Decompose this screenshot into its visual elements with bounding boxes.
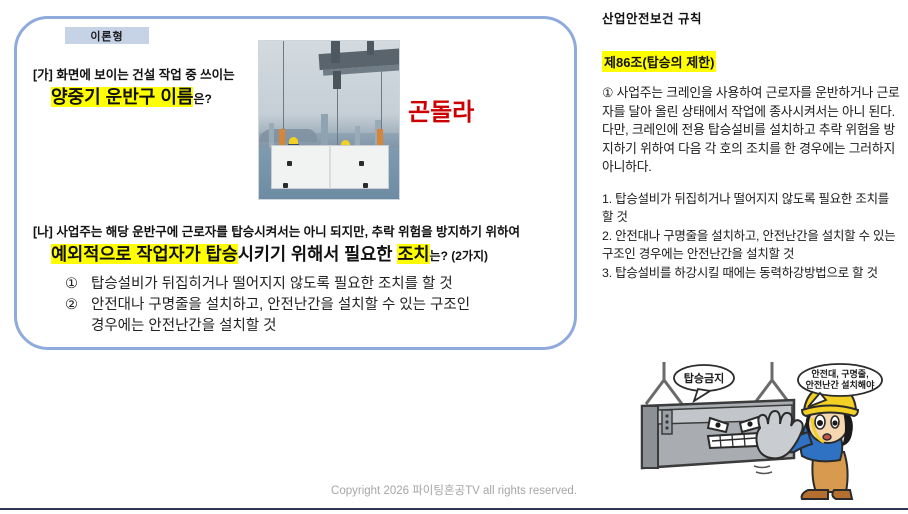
answer-item: 경우에는 안전난간을 설치할 것 [65,316,545,336]
answer-item: ② 안전대나 구명줄을 설치하고, 안전난간을 설치할 수 있는 구조인 [65,295,545,315]
question-b-marker: [나] [33,225,53,239]
gondola-photo [258,40,400,200]
question-b-highlight-1: 예외적으로 작업자가 탑승 [51,244,238,264]
question-a-highlight: 양중기 운반구 이름 [51,87,193,107]
question-a-main: 양중기 운반구 이름은? [33,85,283,111]
question-a-lead: [가] 화면에 보이는 건설 작업 중 쓰이는 [33,67,283,84]
answer-number [65,316,91,336]
regulation-article-heading: 제86조(탑승의 제한) [602,51,716,72]
answer-item: ① 탑승설비가 뒤집히거나 떨어지지 않도록 필요한 조치를 할 것 [65,274,545,294]
question-a-lead-text: 화면에 보이는 건설 작업 중 쓰이는 [56,68,234,82]
photo-platform-bolt [363,183,368,188]
question-type-badge: 이론형 [65,27,149,44]
regulation-title: 산업안전보건 규칙 [602,8,902,27]
bubble-text-worker-line2: 안전난간 설치해야 [806,379,875,390]
answer-word: 곤돌라 [408,92,474,127]
bubble-text-worker-line1: 안전대, 구명줄, [811,368,868,379]
regulation-item: 1. 탑승설비가 뒤집히거나 떨어지지 않도록 필요한 조치를 할 것 [602,190,902,226]
photo-crane-mast [331,41,340,63]
photo-crane-mast [367,41,374,55]
slide-root: 이론형 [가] 화면에 보이는 건설 작업 중 쓰이는 양중기 운반구 이름은?… [0,0,908,514]
regulation-body: ① 사업주는 크레인을 사용하여 근로자를 운반하거나 근로자를 달아 올린 상… [602,84,902,177]
question-b-lead: [나] 사업주는 해당 운반구에 근로자를 탑승시켜서는 아니 되지만, 추락 … [33,224,563,241]
regulation-panel: 산업안전보건 규칙 제86조(탑승의 제한) ① 사업주는 크레인을 사용하여 … [602,8,902,283]
question-b-lead-text: 사업주는 해당 운반구에 근로자를 탑승시켜서는 아니 되지만, 추락 위험을 … [56,225,520,239]
regulation-item: 2. 안전대나 구명줄을 설치하고, 안전난간을 설치할 수 있는 구조인 경우… [602,227,902,263]
answer-list: ① 탑승설비가 뒤집히거나 떨어지지 않도록 필요한 조치를 할 것 ② 안전대… [65,274,545,337]
cartoon-svg: 탑승금지 안전대, 구명줄, 안전난간 설치해야 [636,362,904,502]
bottom-rule [0,508,908,510]
photo-platform-seam [329,145,331,189]
regulation-items: 1. 탑승설비가 뒤집히거나 떨어지지 않도록 필요한 조치를 할 것 2. 안… [602,190,902,282]
photo-platform-bolt [283,183,288,188]
speech-bubble-container: 탑승금지 [674,365,734,401]
question-b: [나] 사업주는 해당 운반구에 근로자를 탑승시켜서는 아니 되지만, 추락 … [33,224,563,268]
answer-number: ① [65,274,91,294]
photo-platform-bolt [287,161,292,166]
photo-crane-hook [333,71,341,89]
question-b-highlight-2: 조치 [397,244,429,264]
regulation-item: 3. 탑승설비를 하강시킬 때에는 동력하강방법으로 할 것 [602,264,902,282]
copyright-text: Copyright 2026 파이팅혼공TV all rights reserv… [0,482,908,498]
safety-cartoon: 탑승금지 안전대, 구명줄, 안전난간 설치해야 [636,362,904,502]
answer-text: 탑승설비가 뒤집히거나 떨어지지 않도록 필요한 조치를 할 것 [91,274,545,294]
bubble-text-box: 탑승금지 [684,371,724,385]
question-a-tail: 은? [193,92,211,106]
question-b-tail: 는? (2가지) [430,249,488,263]
answer-text: 안전대나 구명줄을 설치하고, 안전난간을 설치할 수 있는 구조인 [91,295,545,315]
question-a: [가] 화면에 보이는 건설 작업 중 쓰이는 양중기 운반구 이름은? [33,67,283,111]
question-a-marker: [가] [33,68,53,82]
question-b-mid: 시키기 위해서 필요한 [238,244,398,264]
photo-platform-bolt [359,161,364,166]
photo-worker-helmet [289,137,298,144]
answer-text: 경우에는 안전난간을 설치할 것 [91,316,545,336]
answer-number: ② [65,295,91,315]
question-b-main: 예외적으로 작업자가 탑승시키기 위해서 필요한 조치는? (2가지) [33,242,563,268]
photo-building [321,114,328,149]
